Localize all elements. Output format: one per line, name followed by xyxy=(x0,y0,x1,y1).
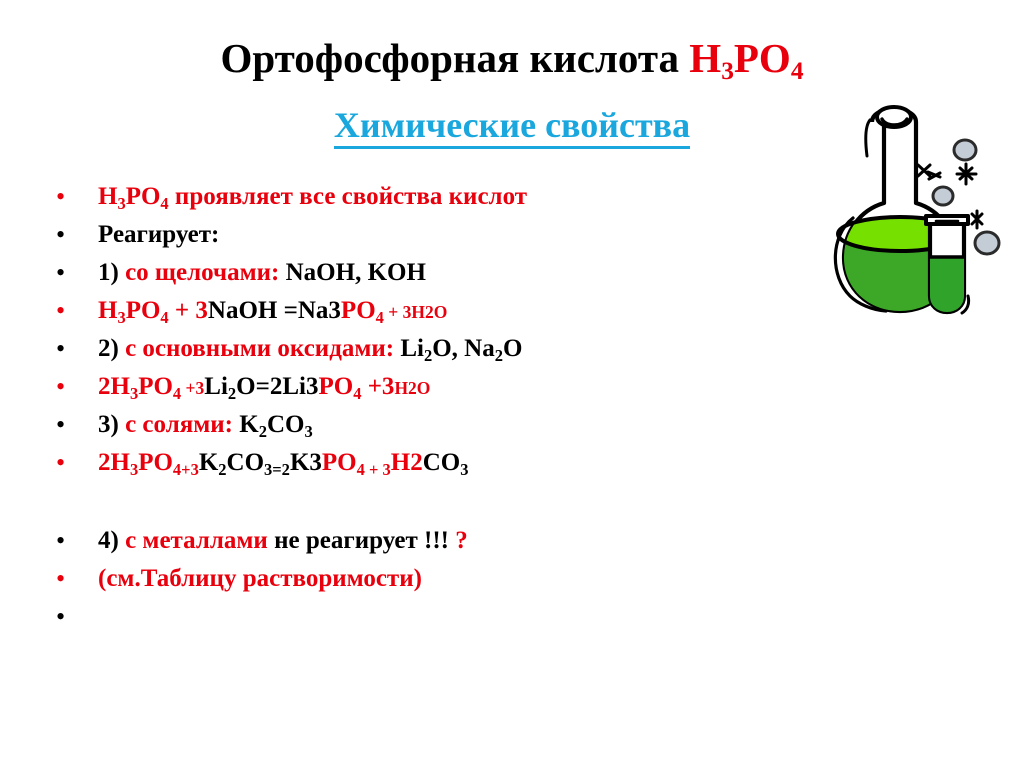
formula-segment: 4 + 3 xyxy=(357,460,391,479)
bullet-line: 2H3PO4+3K2CO3=2K3PO4 + 3H2CO3 xyxy=(56,444,776,482)
formula-segment: H2O xyxy=(394,378,430,398)
formula-segment: +3 xyxy=(361,373,394,400)
formula-segment: со щелочами: xyxy=(125,259,286,286)
formula-segment: 2 xyxy=(424,346,432,365)
formula-segment: 4 xyxy=(376,308,384,327)
bullet-marker xyxy=(56,178,98,216)
formula-segment: 1) xyxy=(98,259,125,286)
formula-segment: 3 xyxy=(117,308,125,327)
formula-segment: PO xyxy=(138,449,173,476)
formula-segment: с солями: xyxy=(125,411,239,438)
formula-segment: H xyxy=(98,297,117,324)
bullet-marker xyxy=(56,406,98,444)
slide-canvas: Ортофосфорная кислота H3PO4 Химические с… xyxy=(0,0,1024,767)
formula-segment: с металлами xyxy=(125,527,274,554)
formula-segment: 2 xyxy=(259,422,267,441)
chemistry-flask-illustration xyxy=(820,100,1020,315)
formula-segment: 4) xyxy=(98,527,125,554)
formula-segment: 3=2 xyxy=(264,460,290,479)
sparkle-icon-3 xyxy=(972,211,982,228)
bubble-icon-3 xyxy=(975,232,999,254)
formula-segment: + 3 xyxy=(169,297,208,324)
formula-segment: 3 xyxy=(130,460,138,479)
formula-sub-3: 3 xyxy=(721,57,734,85)
bullet-text: Реагирует: xyxy=(98,216,219,254)
formula-segment: 2 xyxy=(228,384,236,403)
bullet-marker xyxy=(56,598,98,636)
bullet-line: (см.Таблицу растворимости) xyxy=(56,560,776,598)
formula-segment: PO xyxy=(138,373,173,400)
page-title-formula: H3PO4 xyxy=(689,35,803,81)
bullet-text: 1) со щелочами: NaOH, KOH xyxy=(98,254,426,292)
formula-segment: +3 xyxy=(181,378,204,398)
formula-segment: 4 xyxy=(173,384,181,403)
bubble-icon-1 xyxy=(954,140,976,160)
formula-segment: + 3H2O xyxy=(384,302,447,322)
bullet-line: 2) с основными оксидами: Li2O, Na2O xyxy=(56,330,776,368)
formula-segment: 4 xyxy=(160,194,168,213)
formula-segment: K xyxy=(199,449,218,476)
formula-segment: ? xyxy=(449,527,468,554)
formula-h: H xyxy=(689,35,721,81)
bullet-line: H3PO4 + 3NaOH =Na3PO4 + 3H2O xyxy=(56,292,776,330)
formula-segment: 2H xyxy=(98,373,130,400)
formula-segment: CO xyxy=(227,449,265,476)
formula-segment: 3 xyxy=(117,194,125,213)
page-title: Ортофосфорная кислота H3PO4 xyxy=(0,34,1024,86)
formula-segment: не реагирует !!! xyxy=(274,527,449,554)
formula-segment: 3 xyxy=(460,460,468,479)
formula-segment: O xyxy=(503,335,522,362)
bullet-line: 2H3PO4 +3Li2O=2Li3PO4 +3H2O xyxy=(56,368,776,406)
formula-segment: K3 xyxy=(290,449,322,476)
formula-segment: H2 xyxy=(391,449,423,476)
formula-segment: 3 xyxy=(304,422,312,441)
sparkle-icon-2 xyxy=(957,164,976,184)
formula-segment: 2 xyxy=(218,460,226,479)
formula-segment: Li xyxy=(204,373,228,400)
formula-segment: NaOH =Na3 xyxy=(208,297,341,324)
flask-neck-accent-icon xyxy=(866,120,870,156)
page-title-text: Ортофосфорная кислота xyxy=(220,35,689,81)
formula-segment: 3) xyxy=(98,411,125,438)
bullet-marker xyxy=(56,216,98,254)
bullet-marker xyxy=(56,560,98,598)
bullet-marker xyxy=(56,368,98,406)
bullet-marker xyxy=(56,444,98,482)
sparkle-icon-1 xyxy=(918,165,940,179)
formula-segment: Реагирует: xyxy=(98,221,219,248)
formula-segment: CO xyxy=(423,449,461,476)
formula-segment: O=2Li3 xyxy=(236,373,318,400)
bullet-line: 4) с металлами не реагирует !!! ? xyxy=(56,522,776,560)
bullet-marker xyxy=(56,254,98,292)
bullet-text: 4) с металлами не реагирует !!! ? xyxy=(98,522,468,560)
bullet-marker xyxy=(56,330,98,368)
bullet-text: 2H3PO4+3K2CO3=2K3PO4 + 3H2CO3 xyxy=(98,444,468,489)
page-subtitle-text: Химические свойства xyxy=(334,105,690,149)
formula-segment: CO xyxy=(267,411,305,438)
formula-segment: 4+3 xyxy=(173,460,199,479)
formula-segment: O, Na xyxy=(432,335,495,362)
formula-sub-4: 4 xyxy=(791,57,804,85)
formula-segment: 3 xyxy=(130,384,138,403)
formula-segment: H xyxy=(98,183,117,210)
formula-segment: PO xyxy=(341,297,376,324)
bullet-marker xyxy=(56,292,98,330)
formula-segment: PO xyxy=(126,183,161,210)
bullet-list: H3PO4 проявляет все свойства кислотРеаги… xyxy=(56,178,776,636)
formula-segment: 4 xyxy=(160,308,168,327)
formula-segment: PO xyxy=(126,297,161,324)
formula-segment: 2H xyxy=(98,449,130,476)
formula-segment: с основными оксидами: xyxy=(125,335,400,362)
formula-po: PO xyxy=(734,35,791,81)
formula-segment: PO xyxy=(318,373,353,400)
formula-segment: Li xyxy=(400,335,424,362)
formula-segment: K xyxy=(239,411,258,438)
formula-segment: PO xyxy=(322,449,357,476)
bullet-line: 1) со щелочами: NaOH, KOH xyxy=(56,254,776,292)
formula-segment: проявляет все свойства кислот xyxy=(169,183,527,210)
bullet-line: H3PO4 проявляет все свойства кислот xyxy=(56,178,776,216)
formula-segment: NaOH, KOH xyxy=(286,259,426,286)
formula-segment: 2 xyxy=(495,346,503,365)
formula-segment: 2) xyxy=(98,335,125,362)
bubble-icon-2 xyxy=(933,187,953,205)
bullet-line xyxy=(56,598,776,636)
bullet-marker xyxy=(56,522,98,560)
bullet-text: (см.Таблицу растворимости) xyxy=(98,560,422,598)
formula-segment: (см.Таблицу растворимости) xyxy=(98,565,422,592)
